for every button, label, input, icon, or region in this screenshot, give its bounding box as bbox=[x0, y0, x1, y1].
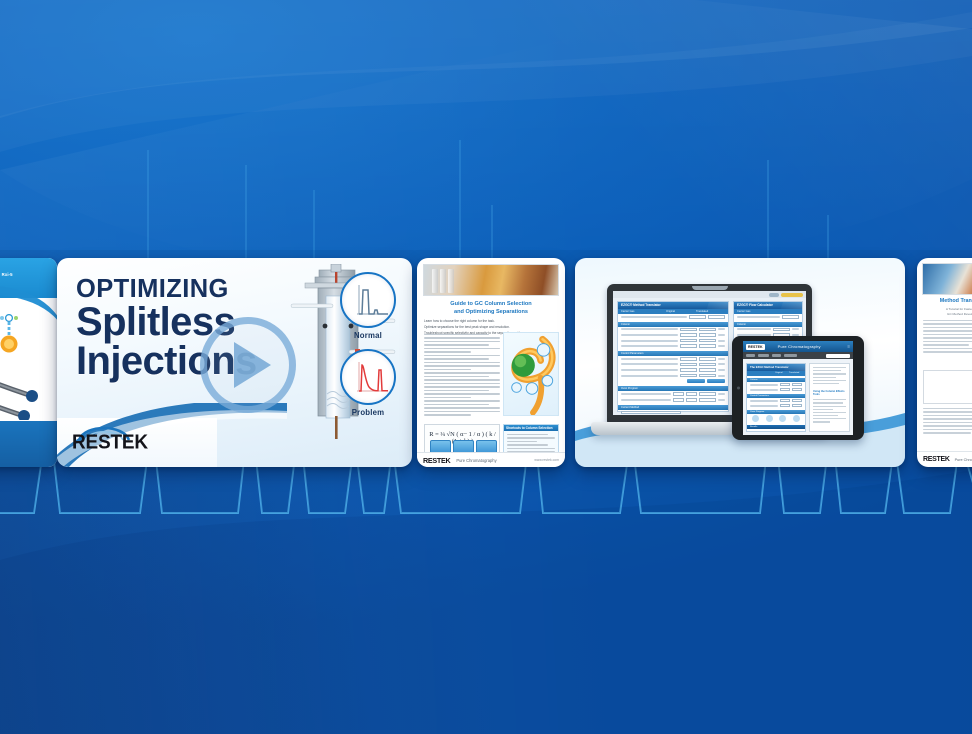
carrier-gas-label: Carrier Gas bbox=[621, 309, 666, 314]
card-optimizing-splitless-injections-video[interactable]: OPTIMIZING Splitless Injections bbox=[57, 258, 412, 467]
tablet-article-heading: Using the Column Effects Tools bbox=[813, 390, 846, 396]
method-body-text bbox=[923, 320, 972, 355]
carousel-stage: Stationary Phase Rxi-5 bbox=[0, 0, 972, 734]
chromatogram-normal: Normal bbox=[335, 272, 401, 340]
restek-wordmark: RESTEK bbox=[72, 431, 148, 454]
carrier-gas-selects[interactable] bbox=[618, 314, 728, 320]
guide-footer-brand: RESTEK bbox=[423, 456, 450, 465]
laptop-notch bbox=[692, 286, 728, 290]
tablet-body: RESTEK Pure Chromatography ☰ bbox=[732, 336, 864, 440]
nav-item-2[interactable] bbox=[758, 354, 769, 357]
nav-item-1[interactable] bbox=[746, 354, 755, 357]
tablet-ctrl-row-2[interactable] bbox=[747, 403, 805, 408]
guide-footer-url: www.restek.com bbox=[534, 458, 559, 462]
card-rxi-stationary-phase-guide[interactable]: Stationary Phase Rxi-5 bbox=[0, 258, 57, 467]
control-button-a[interactable] bbox=[687, 379, 705, 383]
tablet-brand: RESTEK bbox=[746, 344, 765, 350]
chromatogram-normal-label: Normal bbox=[335, 331, 401, 340]
control-buttons[interactable] bbox=[618, 378, 728, 384]
play-triangle-icon bbox=[234, 342, 271, 388]
play-button[interactable] bbox=[200, 317, 296, 413]
restek-logo: RESTEK bbox=[57, 418, 217, 467]
tablet-camera bbox=[737, 387, 740, 390]
tablet-app-window[interactable]: RESTEK Pure Chromatography ☰ bbox=[743, 341, 853, 435]
tablet-oven-icons[interactable] bbox=[747, 414, 805, 423]
guide-title-line1: Guide to GC Column Selection bbox=[425, 300, 557, 308]
method-footer-brand: RESTEK bbox=[923, 456, 950, 463]
flow-carrier-select[interactable] bbox=[734, 314, 802, 320]
tablet-panel-heading: The EZGC Method Translator bbox=[747, 364, 805, 371]
toolbar-pill-1[interactable] bbox=[769, 293, 779, 297]
method-footer: RESTEK Pure Chromatography bbox=[917, 451, 972, 467]
chromatogram-problem: Problem bbox=[335, 349, 401, 417]
gc-column-photo-graphic bbox=[0, 354, 50, 420]
app-toolbar[interactable] bbox=[613, 291, 806, 298]
tablet-search-input[interactable] bbox=[826, 354, 850, 358]
method-body-text-2 bbox=[923, 408, 972, 436]
toolbar-pill-2[interactable] bbox=[781, 293, 803, 297]
method-header-photo bbox=[922, 263, 972, 295]
document-footer-url: www.restek.com/gc bbox=[0, 452, 53, 456]
chromatogram-problem-label: Problem bbox=[335, 408, 401, 417]
tablet-col-original: Original bbox=[775, 371, 789, 376]
panel-carrier-gas-row: Carrier Gas Original Translated bbox=[618, 309, 728, 314]
col-original-label: Original bbox=[666, 309, 696, 314]
current-method-row[interactable] bbox=[618, 410, 728, 415]
panel-method-translator[interactable]: EZGC® Method Translator Carrier Gas Orig… bbox=[617, 301, 729, 412]
method-subtitle-line2: GC Method Development bbox=[923, 312, 972, 317]
card-method-translation-guide[interactable]: Method Translation A Tutorial for Faster… bbox=[917, 258, 972, 467]
guide-bullet-1: Learn how to choose the right column for… bbox=[424, 319, 558, 324]
col-translated-label: Translated bbox=[696, 309, 728, 314]
tablet-navbar[interactable] bbox=[743, 352, 853, 359]
nav-item-3[interactable] bbox=[772, 354, 781, 357]
chromatogram-comparison: Normal Problem bbox=[335, 272, 401, 426]
card-ezgc-software[interactable]: EZGC® Method Translator Carrier Gas Orig… bbox=[575, 258, 905, 467]
tablet-screen[interactable]: RESTEK Pure Chromatography ☰ bbox=[743, 341, 853, 435]
chromatogram-problem-ring bbox=[340, 349, 396, 405]
guide-title: Guide to GC Column Selection and Optimiz… bbox=[425, 300, 557, 317]
method-subtitle: A Tutorial for Faster, Easier GC Method … bbox=[923, 307, 972, 316]
control-button-b[interactable] bbox=[707, 379, 725, 383]
guide-footer: RESTEK Pure Chromatography www.restek.co… bbox=[417, 452, 565, 467]
tablet-section-results: Results bbox=[747, 425, 805, 429]
document-sheet: Stationary Phase Rxi-5 bbox=[0, 258, 57, 467]
guide-header-photo bbox=[423, 264, 559, 296]
tablet-device: RESTEK Pure Chromatography ☰ bbox=[732, 336, 864, 440]
tablet-article: Using the Column Effects Tools bbox=[809, 363, 850, 432]
guide-footer-tagline: Pure Chromatography bbox=[456, 458, 496, 463]
method-footer-tagline: Pure Chromatography bbox=[955, 458, 972, 462]
tablet-col-translated: Translated bbox=[789, 371, 805, 376]
card-gc-column-selection-guide[interactable]: Guide to GC Column Selection and Optimiz… bbox=[417, 258, 565, 467]
carrier-gas-translated-select[interactable] bbox=[708, 315, 725, 319]
tablet-tagline: Pure Chromatography bbox=[778, 344, 821, 349]
method-figure-box bbox=[923, 370, 972, 404]
panel-flow-calculator-heading: EZGC® Flow Calculator bbox=[734, 302, 802, 309]
tablet-col-row-2[interactable] bbox=[747, 387, 805, 392]
oven-row-2[interactable] bbox=[618, 397, 728, 403]
guide-selectivity-illustration bbox=[503, 332, 559, 416]
guide-bullet-2: Optimize separations for the best peak s… bbox=[424, 325, 558, 330]
tablet-header-meta: ☰ bbox=[847, 345, 850, 349]
nav-item-4[interactable] bbox=[784, 354, 797, 357]
panel-method-translator-heading: EZGC® Method Translator bbox=[618, 302, 728, 309]
chromatogram-normal-trace bbox=[342, 274, 396, 328]
carousel-rail[interactable]: Stationary Phase Rxi-5 bbox=[0, 258, 972, 470]
document-banner-text: Stationary Phase Rxi-5 bbox=[0, 272, 54, 277]
carrier-gas-original-select[interactable] bbox=[689, 315, 706, 319]
chromatogram-normal-ring bbox=[340, 272, 396, 328]
guide-sidebar-heading: Shortcuts to Column Selection bbox=[504, 425, 558, 431]
guide-title-line2: and Optimizing Separations bbox=[425, 308, 557, 316]
tablet-site-header: RESTEK Pure Chromatography ☰ bbox=[743, 341, 853, 352]
document-footer: www.restek.com/gc bbox=[0, 421, 57, 467]
column-row-4[interactable] bbox=[618, 343, 728, 349]
tablet-panel-method-translator[interactable]: The EZGC Method Translator Original Tran… bbox=[746, 363, 806, 432]
guide-body-text bbox=[424, 334, 500, 418]
chromatogram-problem-trace bbox=[342, 351, 396, 405]
method-title: Method Translation bbox=[923, 298, 972, 304]
